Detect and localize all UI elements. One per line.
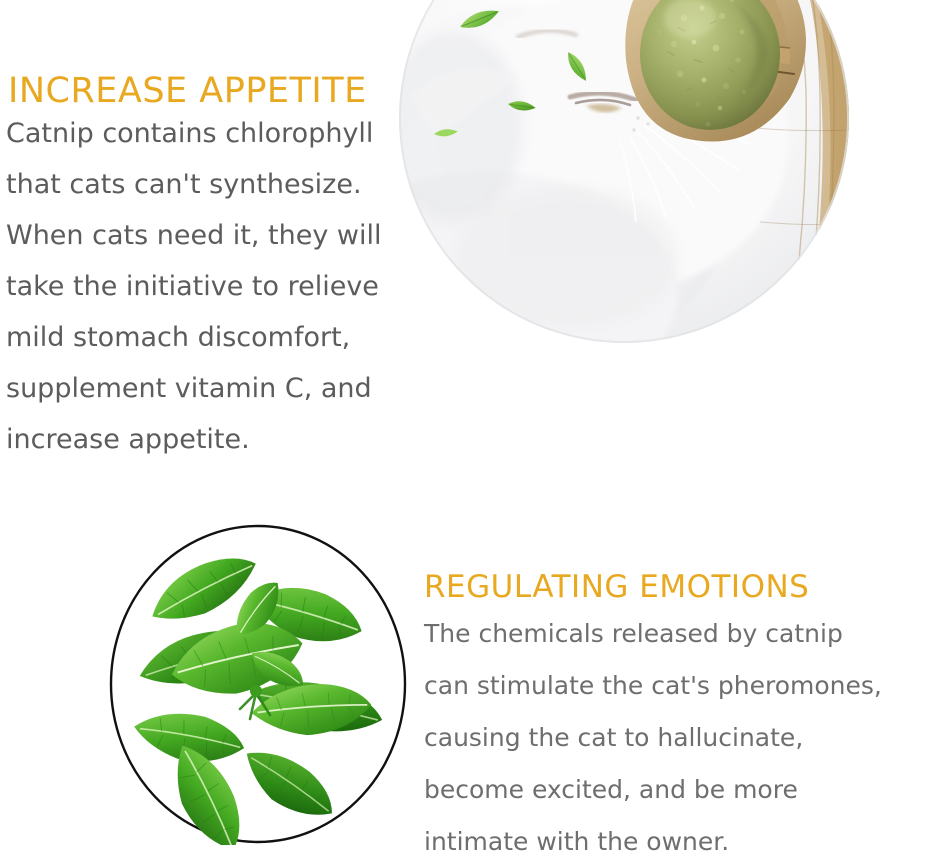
body-line: causing the cat to hallucinate,: [424, 712, 882, 764]
body-line: mild stomach discomfort,: [6, 312, 382, 363]
body-line: When cats need it, they will: [6, 210, 382, 261]
cat-licking-catnip-ball-photo: [398, 0, 850, 344]
section-body-increase-appetite: Catnip contains chlorophyll that cats ca…: [6, 108, 382, 465]
infographic-page: INCREASE APPETITE Catnip contains chloro…: [0, 0, 932, 866]
mint-leaves-photo: [108, 523, 408, 845]
body-line: Catnip contains chlorophyll: [6, 108, 382, 159]
body-line: that cats can't synthesize.: [6, 159, 382, 210]
section-body-regulating-emotions: The chemicals released by catnip can sti…: [424, 608, 882, 866]
body-line: intimate with the owner.: [424, 816, 882, 866]
body-line: become excited, and be more: [424, 764, 882, 816]
section-heading-regulating-emotions: REGULATING EMOTIONS: [424, 569, 809, 605]
body-line: supplement vitamin C, and: [6, 363, 382, 414]
body-line: increase appetite.: [6, 414, 382, 465]
body-line: can stimulate the cat's pheromones,: [424, 660, 882, 712]
section-heading-increase-appetite: INCREASE APPETITE: [8, 71, 367, 111]
body-line: take the initiative to relieve: [6, 261, 382, 312]
body-line: The chemicals released by catnip: [424, 608, 882, 660]
